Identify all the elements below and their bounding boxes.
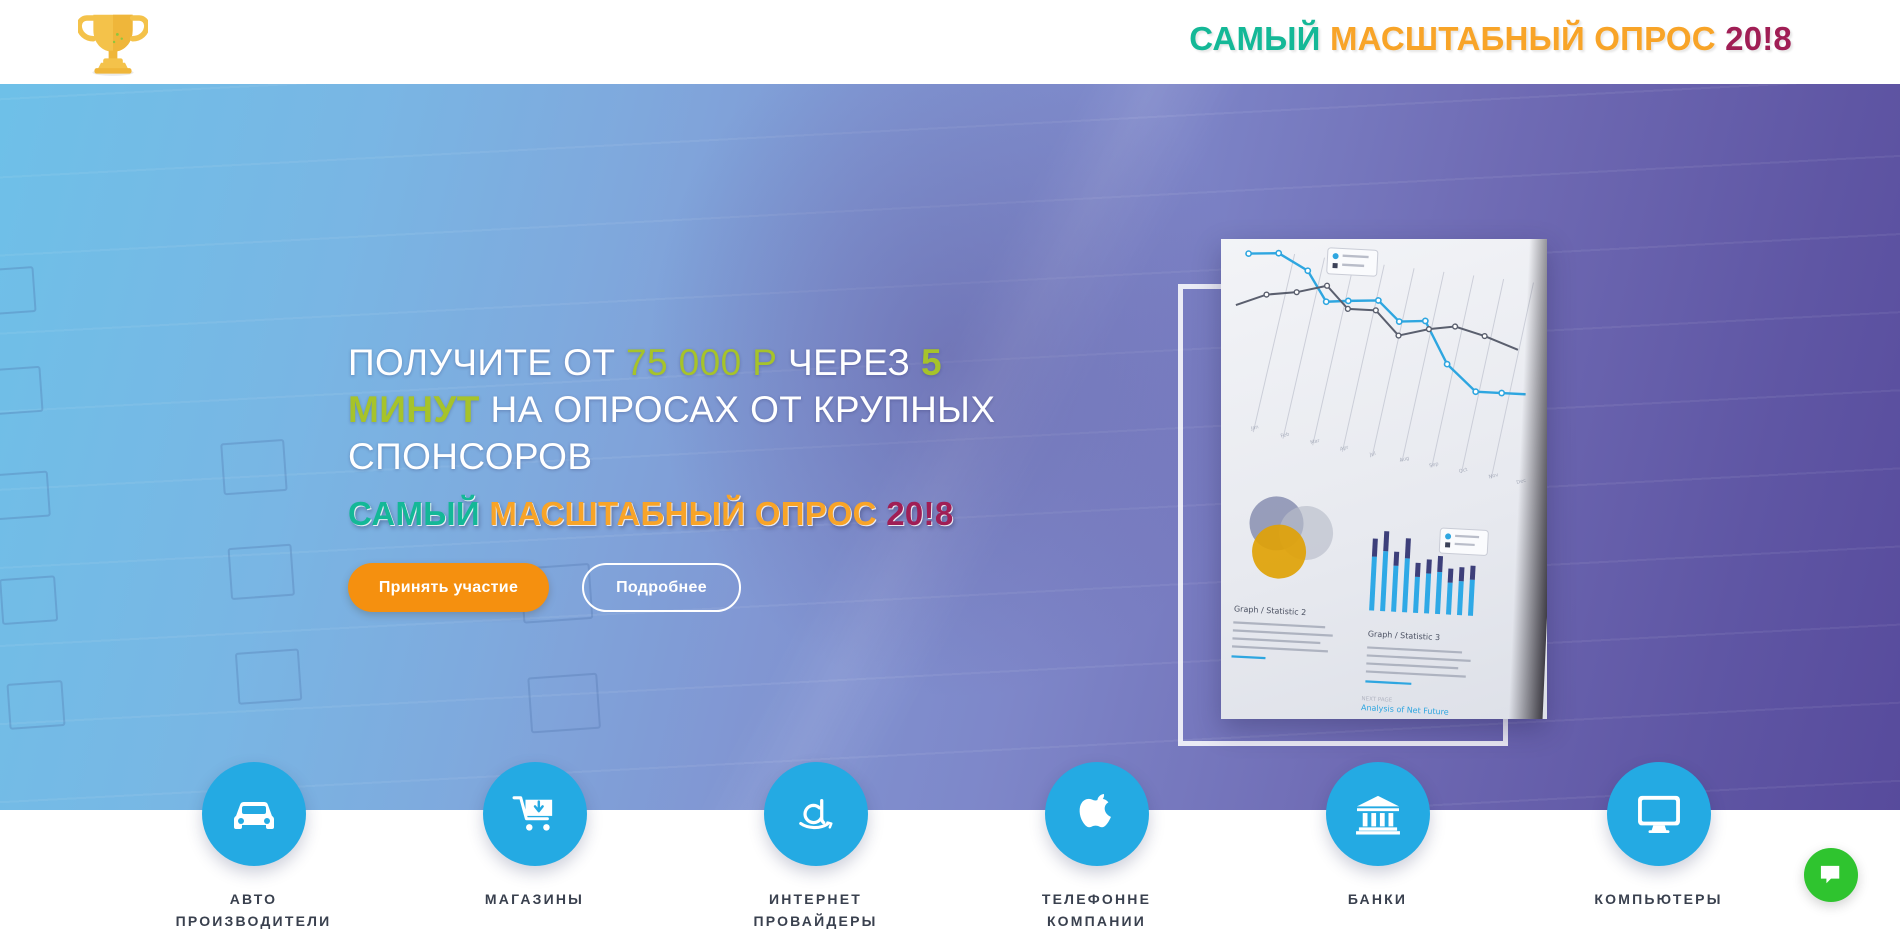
apple-icon[interactable] bbox=[1045, 762, 1149, 866]
bank-icon[interactable] bbox=[1326, 762, 1430, 866]
category-auto[interactable]: АВТО ПРОИЗВОДИТЕЛИ bbox=[161, 762, 346, 938]
slogan-part-3: 20!8 bbox=[886, 495, 953, 532]
svg-text:Apr: Apr bbox=[1339, 444, 1350, 452]
category-label-auto: АВТО ПРОИЗВОДИТЕЛИ bbox=[176, 888, 332, 932]
brand-part-2: МАСШТАБНЫЙ ОПРОС bbox=[1330, 20, 1716, 57]
trophy-icon[interactable] bbox=[78, 6, 148, 78]
svg-text:Sep: Sep bbox=[1429, 461, 1440, 469]
hero-copy-block: ПОЛУЧИТЕ ОТ 75 000 Р ЧЕРЕЗ 5 МИНУТ НА ОП… bbox=[348, 339, 1048, 612]
svg-text:Feb: Feb bbox=[1280, 431, 1290, 439]
amazon-icon[interactable] bbox=[764, 762, 868, 866]
category-label-line1: ИНТЕРНЕТ bbox=[753, 888, 877, 910]
headline-amount: 75 000 Р bbox=[626, 342, 777, 383]
chat-bubble-icon bbox=[1819, 864, 1843, 886]
cart-icon[interactable] bbox=[483, 762, 587, 866]
participate-button[interactable]: Принять участие bbox=[348, 563, 549, 612]
hero-headline: ПОЛУЧИТЕ ОТ 75 000 Р ЧЕРЕЗ 5 МИНУТ НА ОП… bbox=[348, 339, 1048, 480]
category-banks[interactable]: БАНКИ bbox=[1285, 762, 1470, 938]
category-label-line1: КОМПЬЮТЕРЫ bbox=[1594, 888, 1722, 910]
category-label-banks: БАНКИ bbox=[1348, 888, 1407, 910]
hero-image-wrapper: Jan Feb Mar Apr Jul Aug Sep Oct Nov Dec bbox=[1178, 284, 1518, 774]
headline-seg-1: ПОЛУЧИТЕ ОТ bbox=[348, 342, 626, 383]
category-phone-companies[interactable]: ТЕЛЕФОННЕ КОМПАНИИ bbox=[1004, 762, 1189, 938]
monitor-icon[interactable] bbox=[1607, 762, 1711, 866]
category-label-phone-companies: ТЕЛЕФОННЕ КОМПАНИИ bbox=[1042, 888, 1151, 932]
category-label-computers: КОМПЬЮТЕРЫ bbox=[1594, 888, 1722, 910]
svg-text:Nov: Nov bbox=[1488, 472, 1499, 480]
category-label-shops: МАГАЗИНЫ bbox=[485, 888, 584, 910]
brand-part-3: 20!8 bbox=[1725, 20, 1792, 57]
category-internet[interactable]: ИНТЕРНЕТ ПРОВАЙДЕРЫ bbox=[723, 762, 908, 938]
brand-logo-text: САМЫЙ МАСШТАБНЫЙ ОПРОС 20!8 bbox=[1189, 20, 1792, 58]
hero-cta-row: Принять участие Подробнее bbox=[348, 563, 1048, 612]
svg-text:Analysis of Net Future: Analysis of Net Future bbox=[1361, 703, 1449, 717]
category-label-line1: БАНКИ bbox=[1348, 888, 1407, 910]
headline-seg-2: ЧЕРЕЗ bbox=[777, 342, 921, 383]
svg-text:Jul: Jul bbox=[1368, 451, 1376, 459]
category-label-line1: ТЕЛЕФОННЕ bbox=[1042, 888, 1151, 910]
hero-slogan: САМЫЙ МАСШТАБНЫЙ ОПРОС 20!8 bbox=[348, 495, 1048, 533]
category-list: АВТО ПРОИЗВОДИТЕЛИ МАГАЗИНЫ bbox=[0, 762, 1900, 938]
svg-text:Graph / Statistic 3: Graph / Statistic 3 bbox=[1368, 629, 1441, 642]
svg-text:Aug: Aug bbox=[1399, 455, 1410, 463]
analytics-report-photo: Jan Feb Mar Apr Jul Aug Sep Oct Nov Dec bbox=[1221, 239, 1547, 719]
more-details-button[interactable]: Подробнее bbox=[582, 563, 741, 612]
category-label-line2: ПРОВАЙДЕРЫ bbox=[753, 910, 877, 932]
slogan-part-2: МАСШТАБНЫЙ ОПРОС bbox=[489, 495, 876, 532]
category-label-internet: ИНТЕРНЕТ ПРОВАЙДЕРЫ bbox=[753, 888, 877, 932]
category-label-line1: МАГАЗИНЫ bbox=[485, 888, 584, 910]
car-icon[interactable] bbox=[202, 762, 306, 866]
svg-text:Oct: Oct bbox=[1458, 467, 1468, 475]
category-label-line2: КОМПАНИИ bbox=[1042, 910, 1151, 932]
slogan-part-1: САМЫЙ bbox=[348, 495, 480, 532]
top-header-bar: САМЫЙ МАСШТАБНЫЙ ОПРОС 20!8 bbox=[0, 0, 1900, 84]
chat-widget-button[interactable] bbox=[1804, 848, 1858, 902]
category-label-line2: ПРОИЗВОДИТЕЛИ bbox=[176, 910, 332, 932]
category-shops[interactable]: МАГАЗИНЫ bbox=[442, 762, 627, 938]
category-computers[interactable]: КОМПЬЮТЕРЫ bbox=[1566, 762, 1751, 938]
svg-text:Graph / Statistic 2: Graph / Statistic 2 bbox=[1234, 604, 1307, 617]
category-label-line1: АВТО bbox=[176, 888, 332, 910]
svg-text:Mar: Mar bbox=[1310, 438, 1322, 446]
svg-text:Jan: Jan bbox=[1249, 424, 1259, 432]
brand-part-1: САМЫЙ bbox=[1189, 20, 1320, 57]
